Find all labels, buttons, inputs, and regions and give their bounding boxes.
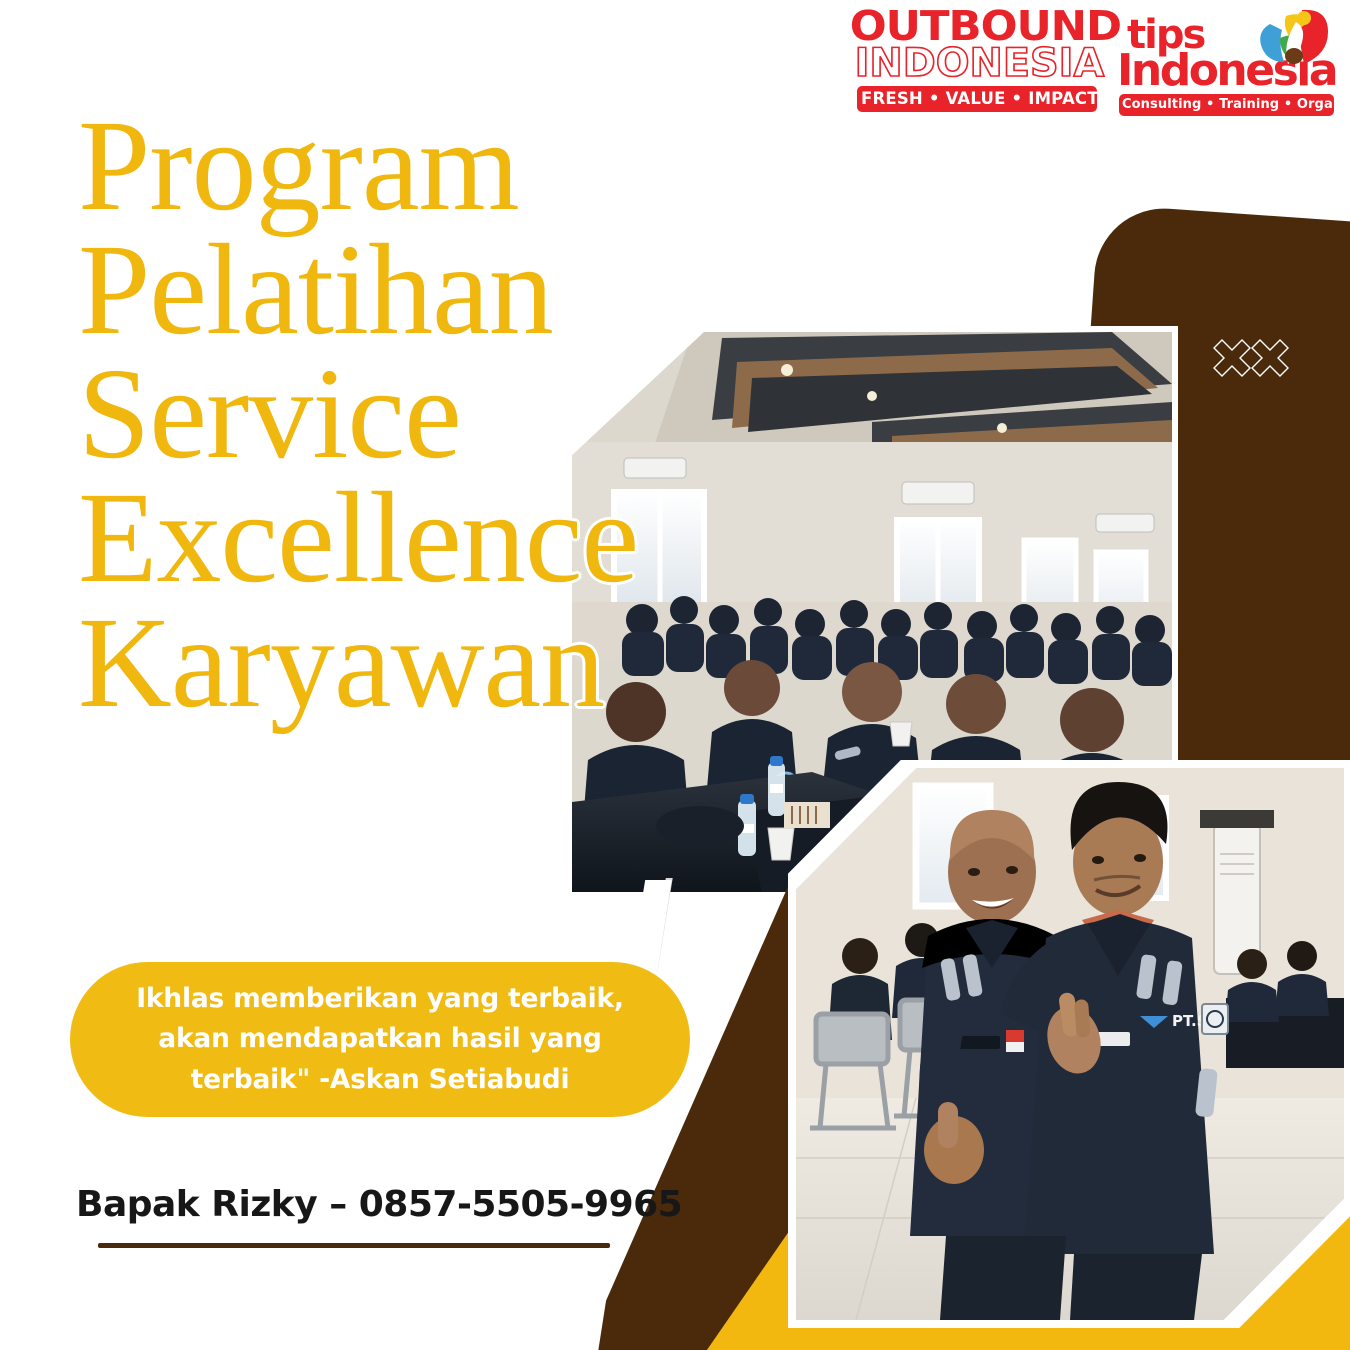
poster-canvas: Program Pelatihan Service Excellence Kar… xyxy=(0,0,1350,1350)
outbound-indonesia-logo: OUTBOUND INDONESIA FRESH • VALUE • IMPAC… xyxy=(857,8,1097,112)
headline-line-5: Karyawan xyxy=(78,601,938,725)
contact-label[interactable]: Bapak Rizky – 0857-5505-9965 xyxy=(76,1184,682,1225)
tips-logo-tagline: Consulting • Training • Organizer xyxy=(1119,94,1334,116)
two-participants-photo: PT.SBC xyxy=(796,768,1344,1320)
tips-indonesia-logo: tips Indonesia Consulting • Training • O… xyxy=(1119,8,1334,116)
quote-line-3: terbaik" -Askan Setiabudi xyxy=(191,1064,570,1095)
contact-underline-rule xyxy=(98,1243,610,1248)
contact-block: Bapak Rizky – 0857-5505-9965 xyxy=(76,1184,682,1248)
quote-line-2: akan mendapatkan hasil yang xyxy=(158,1023,601,1054)
xx-decorative-marks-icon xyxy=(1206,336,1292,396)
outbound-logo-line-2: INDONESIA xyxy=(855,44,1100,83)
page-title: Program Pelatihan Service Excellence Kar… xyxy=(78,104,938,725)
quote-line-1: Ikhlas memberikan yang terbaik, xyxy=(136,983,624,1014)
headline-line-2: Pelatihan xyxy=(78,228,938,352)
tips-figure-mark-icon xyxy=(1256,8,1330,71)
logo-group: OUTBOUND INDONESIA FRESH • VALUE • IMPAC… xyxy=(857,8,1334,116)
tips-logo-line-1: tips xyxy=(1127,12,1204,58)
headline-line-4: Excellence xyxy=(78,476,938,600)
headline-line-1: Program xyxy=(78,104,938,228)
quote-text: Ikhlas memberikan yang terbaik, akan men… xyxy=(102,979,658,1100)
outbound-logo-tagline: FRESH • VALUE • IMPACTFUL xyxy=(857,86,1097,112)
quote-pill: Ikhlas memberikan yang terbaik, akan men… xyxy=(70,962,690,1117)
headline-line-3: Service xyxy=(78,352,938,476)
